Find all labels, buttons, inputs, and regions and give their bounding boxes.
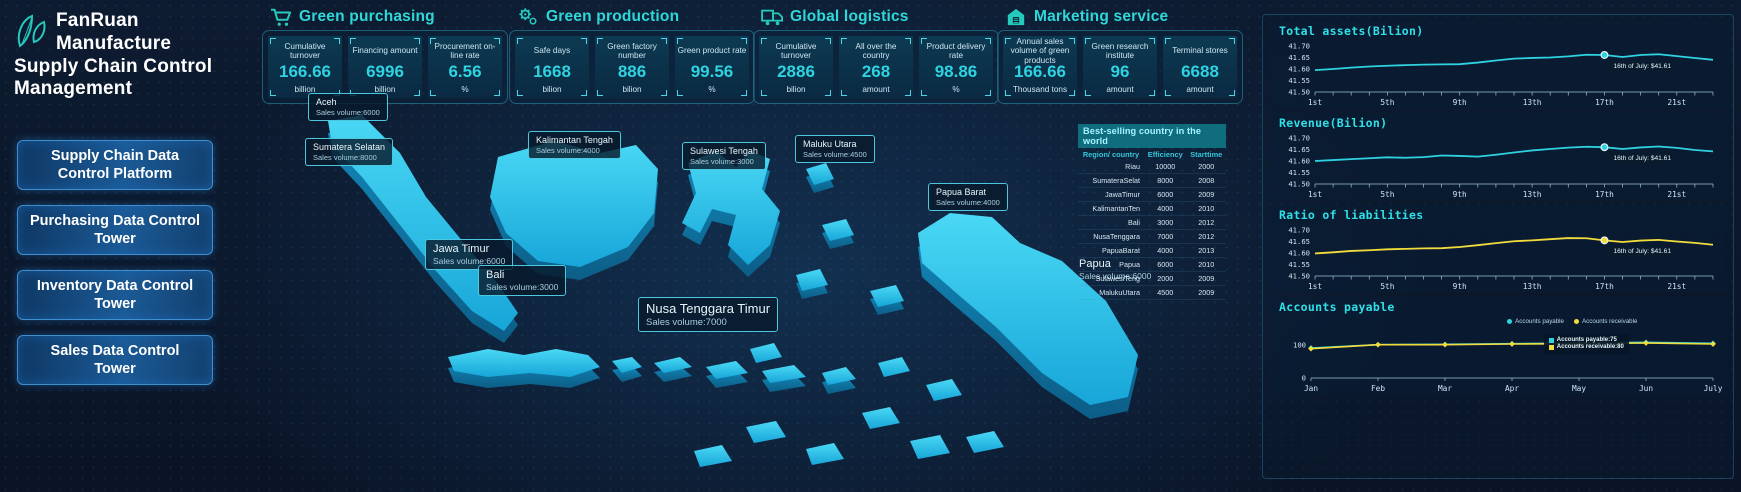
map-label-aceh[interactable]: Aceh Sales volume:6000 [308,93,388,121]
kpi-unit: Thousand tons [1013,85,1067,94]
map-label-bali[interactable]: Bali Sales volume:3000 [478,265,566,296]
brand-header: FanRuan Manufacture Supply Chain Control… [14,8,244,100]
kpi-label: Cumulative turnover [270,41,340,61]
map-label-name: Sumatera Selatan [313,142,385,153]
svg-text:1st: 1st [1308,190,1322,199]
kpi-group-title: Green purchasing [299,8,435,26]
kpi-card[interactable]: Cumulative turnover 2886 bilion [759,36,833,98]
map-label-sumatera-selatan[interactable]: Sumatera Selatan Sales volume:8000 [305,138,393,166]
cell-region: SumateraSelat [1078,174,1144,188]
chart-legend[interactable]: Accounts payableAccounts receivable [1507,318,1637,325]
cell-region: Papua [1078,258,1144,272]
svg-text:21st: 21st [1667,282,1686,291]
svg-text:41.65: 41.65 [1288,237,1310,246]
cell-region: JawaTimur [1078,188,1144,202]
shopping-cart-icon [270,7,292,27]
chart-total-assets[interactable]: Total assets(Bilion) 41.7041.6541.6041.5… [1269,21,1727,108]
svg-text:41.60: 41.60 [1288,157,1310,166]
cell-starttime: 2009 [1187,188,1226,202]
kpi-card-row: Cumulative turnover 2886 bilion All over… [753,30,999,104]
svg-text:July: July [1704,384,1723,393]
chart-plot-area: 1000JanFebMarAprMayJunJulyAccounts payab… [1269,316,1727,394]
cell-efficiency: 2000 [1144,272,1187,286]
svg-text:41.65: 41.65 [1288,145,1310,154]
map-label-sulawesi-tengah[interactable]: Sulawesi Tengah Sales volume:3000 [682,142,766,170]
svg-text:13th: 13th [1523,282,1542,291]
cell-efficiency: 10000 [1144,160,1187,174]
map-label-sub: Sales volume:3000 [690,157,758,166]
map-label-name: Aceh [316,97,380,108]
kpi-card[interactable]: Annual sales volume of green products 16… [1003,36,1077,98]
svg-text:Jun: Jun [1639,384,1653,393]
chart-plot-area: 41.7041.6541.6041.5541.501st5th9th13th17… [1269,224,1727,292]
legend-item[interactable]: Accounts receivable [1574,318,1637,325]
brand-subtitle-line1: Supply Chain Control [14,56,244,78]
cell-efficiency: 4000 [1144,202,1187,216]
kpi-label: Green research institute [1085,41,1155,61]
cell-efficiency: 3000 [1144,216,1187,230]
kpi-group-header: Marketing service [997,4,1243,30]
chart-title: Accounts payable [1269,297,1727,316]
map-label-name: Maluku Utara [803,139,867,150]
map-label-sub: Sales volume:6000 [316,108,380,117]
sidebar-item-purchasing-tower[interactable]: Purchasing Data Control Tower [17,205,213,255]
chart-title: Total assets(Bilion) [1269,21,1727,40]
svg-text:1st: 1st [1308,98,1322,107]
gears-icon [517,7,539,27]
cell-efficiency: 6000 [1144,258,1187,272]
tooltip-swatch [1549,345,1554,350]
chart-tooltip: 16th of July: $41.61 [1608,61,1676,72]
map-label-kalimantan-tengah[interactable]: Kalimantan Tengah Sales volume:4000 [528,131,621,159]
truck-icon [761,7,783,27]
cell-starttime: 2010 [1187,202,1226,216]
column-header-starttime: Starttime [1187,150,1226,160]
map-label-maluku-utara[interactable]: Maluku Utara Sales volume:4500 [795,135,875,163]
brand-name-line1: FanRuan [56,8,171,31]
legend-marker-dot [1507,319,1512,324]
kpi-label: Green factory number [597,41,667,61]
svg-text:21st: 21st [1667,190,1686,199]
kpi-label: All over the country [841,41,911,61]
kpi-value: 166.66 [1014,62,1066,82]
chart-title: Revenue(Bilion) [1269,113,1727,132]
left-sidebar: FanRuan Manufacture Supply Chain Control… [0,0,250,492]
kpi-card[interactable]: Green factory number 886 bilion [595,36,669,98]
cell-region: PapuaBarat [1078,244,1144,258]
cell-region: Riau [1078,160,1144,174]
kpi-card[interactable]: Terminal stores 6688 amount [1163,36,1237,98]
svg-text:41.65: 41.65 [1288,53,1310,62]
svg-text:41.55: 41.55 [1288,168,1310,177]
map-label-name: Sulawesi Tengah [690,146,758,157]
legend-label: Accounts receivable [1582,318,1637,325]
map-label-sub: Sales volume:4500 [803,150,867,159]
kpi-group-title: Global logistics [790,8,909,26]
svg-text:Jan: Jan [1304,384,1318,393]
svg-text:17th: 17th [1595,98,1614,107]
svg-text:41.60: 41.60 [1288,65,1310,74]
dashboard-root: FanRuan Manufacture Supply Chain Control… [0,0,1741,492]
legend-label: Accounts payable [1515,318,1564,325]
kpi-card-row: Safe days 1668 bilion Green factory numb… [509,30,755,104]
kpi-group-green-production: Green production Safe days 1668 bilion G… [509,4,755,104]
cell-starttime: 2000 [1187,160,1226,174]
map-label-sub: Sales volume:4000 [936,198,1000,207]
kpi-value: 2886 [777,62,815,82]
kpi-group-global-logistics: Global logistics Cumulative turnover 288… [753,4,999,104]
cell-starttime: 2008 [1187,174,1226,188]
table-row[interactable]: Bali30002012 [1078,216,1226,230]
map-label-nusa-tenggara-timur[interactable]: Nusa Tenggara Timur Sales volume:7000 [638,297,778,332]
kpi-unit: amount [1106,85,1133,94]
svg-text:41.70: 41.70 [1288,134,1310,143]
kpi-card[interactable]: Cumulative turnover 166.66 billion [268,36,342,98]
chart-tooltip: 16th of July: $41.61 [1608,153,1676,164]
cell-region: NusaTenggara [1078,230,1144,244]
nav-label: Inventory Data Control Tower [28,277,202,313]
kpi-value: 98.86 [935,62,978,82]
leaf-icon [14,12,50,52]
kpi-group-header: Green production [509,4,755,30]
table-row[interactable]: KalimantanTen40002010 [1078,202,1226,216]
right-charts-panel: Total assets(Bilion) 41.7041.6541.6041.5… [1262,14,1734,479]
legend-item[interactable]: Accounts payable [1507,318,1564,325]
table-row[interactable]: SumateraSelat80002008 [1078,174,1226,188]
kpi-value: 1668 [533,62,571,82]
svg-text:41.50: 41.50 [1288,180,1310,189]
kpi-label: Green product rate [677,41,747,61]
svg-text:5th: 5th [1380,282,1394,291]
svg-text:41.70: 41.70 [1288,226,1310,235]
kpi-group-title: Marketing service [1034,8,1168,26]
chart-plot-area: 41.7041.6541.6041.5541.501st5th9th13th17… [1269,40,1727,108]
kpi-label: Terminal stores [1165,41,1235,61]
sidebar-item-sales-tower[interactable]: Sales Data Control Tower [17,335,213,385]
cell-region: KalimantanTen [1078,202,1144,216]
tooltip-swatch [1549,338,1554,343]
store-icon [1005,7,1027,27]
map-label-name: Jawa Timur [433,243,505,256]
svg-text:9th: 9th [1453,190,1467,199]
brand-name-line2: Manufacture [56,31,171,54]
kpi-label: Annual sales volume of green products [1005,41,1075,61]
kpi-value: 6996 [366,62,404,82]
nav-label: Sales Data Control Tower [28,342,202,378]
brand-subtitle-line2: Management [14,78,244,100]
kpi-value: 99.56 [691,62,734,82]
best-selling-title: Best-selling country in the world [1078,124,1226,148]
map-label-papua-barat[interactable]: Papua Barat Sales volume:4000 [928,183,1008,211]
kpi-group-header: Green purchasing [262,4,508,30]
cell-efficiency: 4000 [1144,244,1187,258]
kpi-card[interactable]: Safe days 1668 bilion [515,36,589,98]
cell-starttime: 2009 [1187,272,1226,286]
kpi-card-row: Annual sales volume of green products 16… [997,30,1243,104]
chart-ratio-of-liabilities[interactable]: Ratio of liabilities 41.7041.6541.6041.5… [1269,205,1727,292]
svg-text:100: 100 [1293,340,1306,349]
kpi-card[interactable]: Product delivery rate 98.86 % [919,36,993,98]
tooltip-text: Accounts payable:75 [1557,337,1617,343]
cell-starttime: 2010 [1187,258,1226,272]
best-selling-panel: Best-selling country in the world Region… [1078,124,1226,300]
svg-text:13th: 13th [1523,190,1542,199]
cell-starttime: 2012 [1187,230,1226,244]
chart-accounts-payable[interactable]: Accounts payable 1000JanFebMarAprMayJunJ… [1269,297,1727,394]
kpi-card[interactable]: Financing amount 6996 billion [348,36,422,98]
cell-efficiency: 7000 [1144,230,1187,244]
svg-text:9th: 9th [1453,282,1467,291]
kpi-unit: amount [862,85,889,94]
column-header-efficiency: Efficiency [1144,150,1187,160]
cell-starttime: 2009 [1187,286,1226,300]
table-row[interactable]: Papua60002010 [1078,258,1226,272]
map-label-sub: Sales volume:7000 [646,317,770,328]
kpi-value: 6.56 [448,62,481,82]
tooltip-text: Accounts receivable:80 [1557,344,1624,350]
cell-efficiency: 4500 [1144,286,1187,300]
chart-plot-area: 41.7041.6541.6041.5541.501st5th9th13th17… [1269,132,1727,200]
svg-text:Mar: Mar [1438,384,1452,393]
kpi-label: Procurement on-line rate [430,41,500,61]
kpi-card[interactable]: Green research institute 96 amount [1083,36,1157,98]
legend-marker-dot [1574,319,1579,324]
column-header-region: Region/ country [1078,150,1144,160]
map-label-name: Bali [486,269,558,282]
kpi-card[interactable]: All over the country 268 amount [839,36,913,98]
map-label-name: Nusa Tenggara Timur [646,301,770,317]
table-row[interactable]: SulawesiTeng20002009 [1078,272,1226,286]
svg-text:13th: 13th [1523,98,1542,107]
kpi-card[interactable]: Procurement on-line rate 6.56 % [428,36,502,98]
svg-text:41.55: 41.55 [1288,76,1310,85]
svg-text:Apr: Apr [1505,384,1519,393]
cell-region: Bali [1078,216,1144,230]
chart-title: Ratio of liabilities [1269,205,1727,224]
nav-label: Supply Chain Data Control Platform [28,147,202,183]
kpi-unit: bilion [622,85,641,94]
kpi-label: Financing amount [350,41,420,61]
table-row[interactable]: NusaTenggara70002012 [1078,230,1226,244]
svg-text:41.60: 41.60 [1288,249,1310,258]
cell-efficiency: 6000 [1144,188,1187,202]
chart-tooltip: Accounts payable:75Accounts receivable:8… [1544,334,1629,354]
kpi-value: 166.66 [279,62,331,82]
table-row[interactable]: JawaTimur60002009 [1078,188,1226,202]
kpi-unit: bilion [542,85,561,94]
svg-text:41.55: 41.55 [1288,260,1310,269]
map-label-sub: Sales volume:4000 [536,146,613,155]
sidebar-item-supply-chain-platform[interactable]: Supply Chain Data Control Platform [17,140,213,190]
svg-text:41.50: 41.50 [1288,88,1310,97]
kpi-group-marketing-service: Marketing service Annual sales volume of… [997,4,1243,104]
kpi-unit: % [708,85,715,94]
table-header-row: Region/ country Efficiency Starttime [1078,150,1226,160]
kpi-group-title: Green production [546,8,679,26]
kpi-value: 886 [618,62,646,82]
cell-region: SulawesiTeng [1078,272,1144,286]
svg-text:0: 0 [1302,374,1306,383]
kpi-unit: % [952,85,959,94]
map-label-sub: Sales volume:8000 [313,153,385,162]
table-row[interactable]: MalukuUtara45002009 [1078,286,1226,300]
map-label-name: Kalimantan Tengah [536,135,613,146]
tooltip-row: Accounts receivable:80 [1549,344,1624,350]
kpi-label: Safe days [517,41,587,61]
best-selling-table: Region/ country Efficiency Starttime Ria… [1078,150,1226,300]
table-row[interactable]: PapuaBarat40002013 [1078,244,1226,258]
chart-tooltip: 16th of July: $41.61 [1608,246,1676,257]
svg-text:21st: 21st [1667,98,1686,107]
kpi-value: 268 [862,62,890,82]
svg-text:May: May [1572,384,1586,393]
sidebar-item-inventory-tower[interactable]: Inventory Data Control Tower [17,270,213,320]
nav-label: Purchasing Data Control Tower [28,212,202,248]
svg-text:41.70: 41.70 [1288,42,1310,51]
table-row[interactable]: Riau100002000 [1078,160,1226,174]
kpi-label: Product delivery rate [921,41,991,61]
cell-efficiency: 8000 [1144,174,1187,188]
nav-list: Supply Chain Data Control Platform Purch… [17,140,213,400]
kpi-label: Cumulative turnover [761,41,831,61]
cell-starttime: 2013 [1187,244,1226,258]
svg-text:5th: 5th [1380,98,1394,107]
svg-text:Feb: Feb [1371,384,1385,393]
kpi-unit: amount [1186,85,1213,94]
kpi-unit: bilion [786,85,805,94]
svg-text:5th: 5th [1380,190,1394,199]
kpi-value: 96 [1111,62,1130,82]
kpi-unit: % [461,85,468,94]
kpi-group-green-purchasing: Green purchasing Cumulative turnover 166… [262,4,508,104]
svg-text:9th: 9th [1453,98,1467,107]
svg-text:17th: 17th [1595,282,1614,291]
kpi-card[interactable]: Green product rate 99.56 % [675,36,749,98]
cell-region: MalukuUtara [1078,286,1144,300]
chart-revenue[interactable]: Revenue(Bilion) 41.7041.6541.6041.5541.5… [1269,113,1727,200]
tooltip-row: Accounts payable:75 [1549,337,1624,343]
svg-text:17th: 17th [1595,190,1614,199]
map-label-name: Papua Barat [936,187,1000,198]
kpi-value: 6688 [1181,62,1219,82]
svg-text:1st: 1st [1308,282,1322,291]
cell-starttime: 2012 [1187,216,1226,230]
svg-text:41.50: 41.50 [1288,272,1310,281]
map-label-sub: Sales volume:3000 [486,282,558,292]
kpi-group-header: Global logistics [753,4,999,30]
